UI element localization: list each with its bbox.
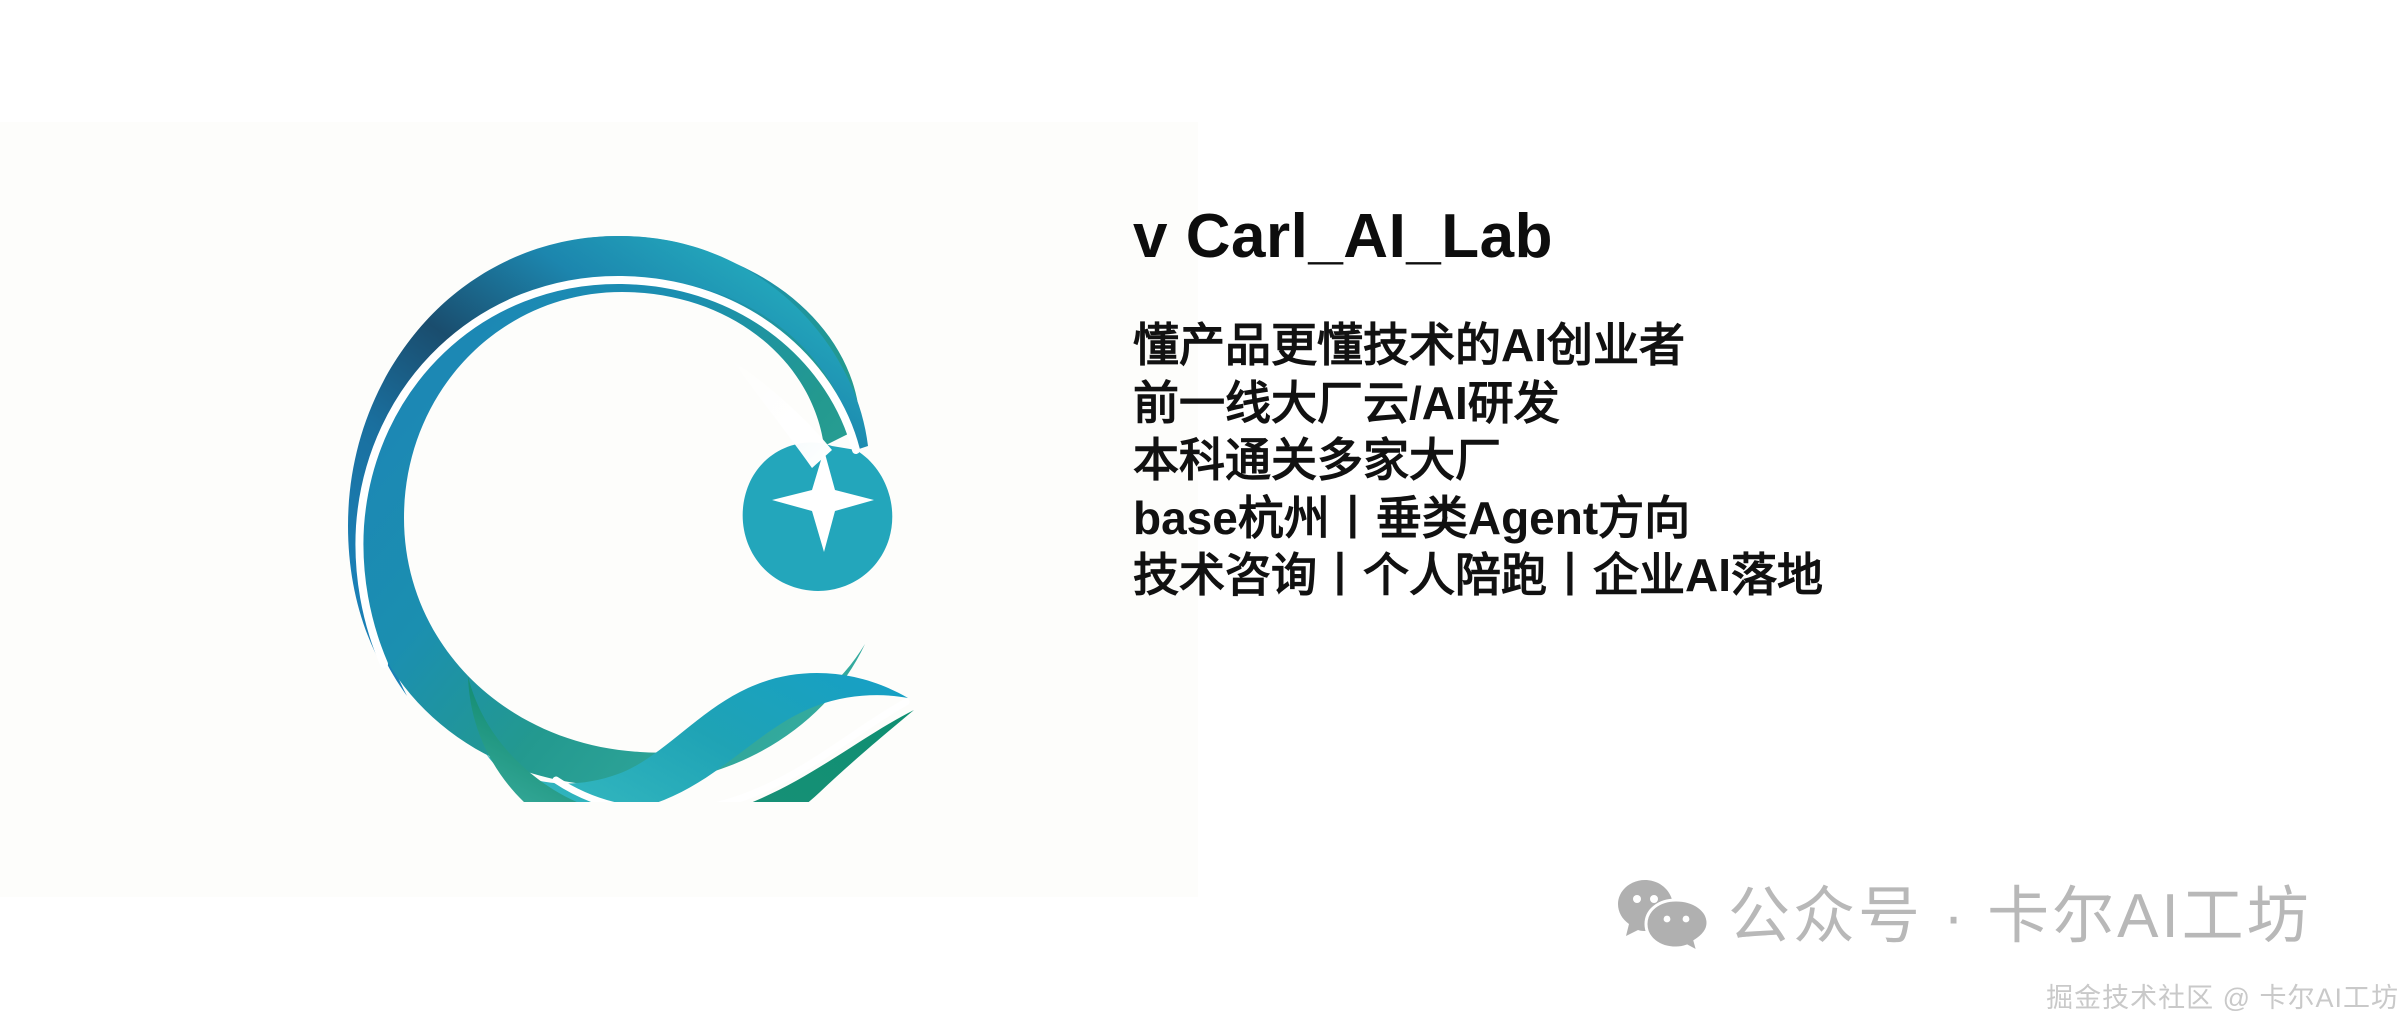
bio-list: 懂产品更懂技术的AI创业者 前一线大厂云/AI研发 本科通关多家大厂 base杭… (1133, 320, 2353, 602)
bio-line: 本科通关多家大厂 (1133, 435, 2353, 487)
footer-credit: 掘金技术社区 @ 卡尔AI工坊 (2046, 976, 2399, 1015)
carl-ai-lab-logo (300, 178, 924, 802)
wechat-icon (1618, 878, 1710, 956)
watermark-label: 公众号 · 卡尔AI工坊 (1728, 886, 2312, 948)
bio-line: 前一线大厂云/AI研发 (1133, 378, 2353, 430)
page-root: v Carl_AI_Lab 懂产品更懂技术的AI创业者 前一线大厂云/AI研发 … (0, 0, 2407, 1024)
page-title: v Carl_AI_Lab (1133, 120, 2353, 268)
bio-line: 技术咨询丨个人陪跑丨企业AI落地 (1133, 550, 2353, 602)
watermark: 公众号 · 卡尔AI工坊 (1618, 878, 2312, 956)
bio-line: base杭州丨垂类Agent方向 (1133, 493, 2353, 545)
profile-text-block: v Carl_AI_Lab 懂产品更懂技术的AI创业者 前一线大厂云/AI研发 … (1133, 120, 2353, 608)
bio-line: 懂产品更懂技术的AI创业者 (1133, 320, 2353, 372)
